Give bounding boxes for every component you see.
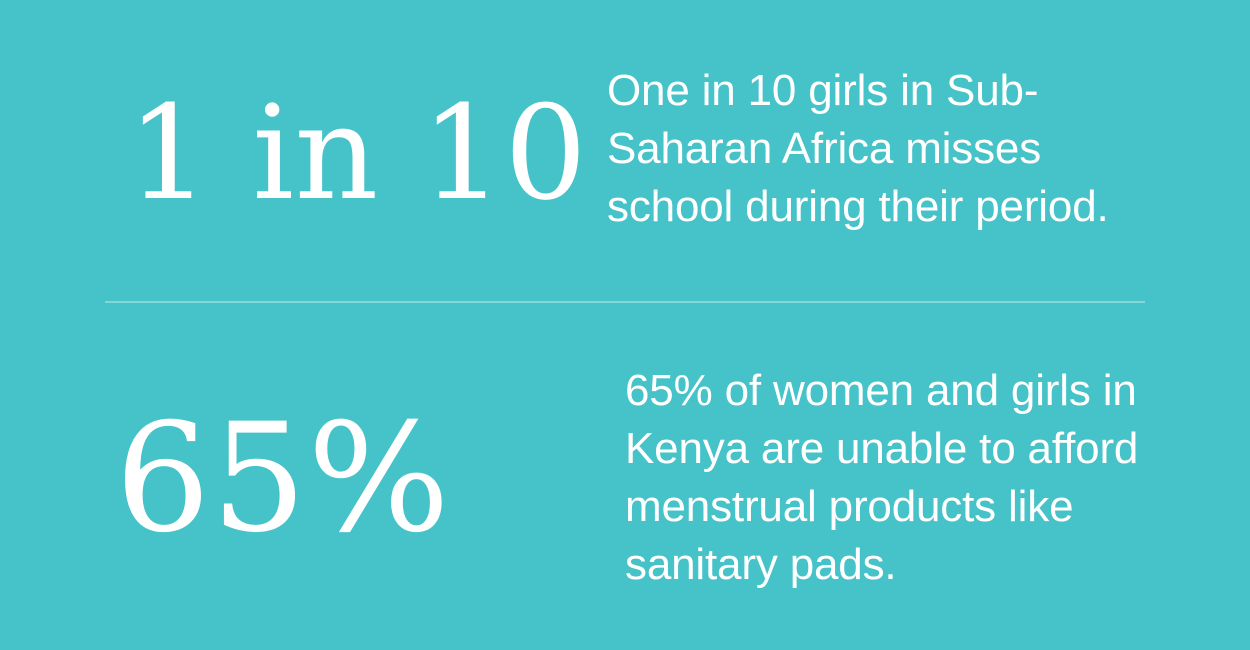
- stat-block-2: 65% 65% of women and girls in Kenya are …: [0, 302, 1250, 650]
- stat-description-2: 65% of women and girls in Kenya are unab…: [625, 362, 1145, 594]
- infographic-canvas: 1 in 10 One in 10 girls in Sub-Saharan A…: [0, 0, 1250, 650]
- stat-figure-1: 1 in 10: [105, 84, 567, 218]
- stat-block-1: 1 in 10 One in 10 girls in Sub-Saharan A…: [0, 0, 1250, 302]
- stat-description-1: One in 10 girls in Sub-Saharan Africa mi…: [607, 62, 1145, 236]
- stat-figure-2: 65%: [105, 398, 555, 554]
